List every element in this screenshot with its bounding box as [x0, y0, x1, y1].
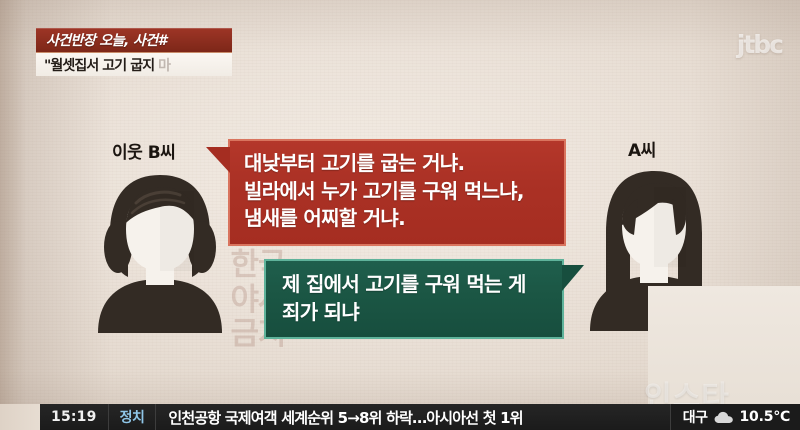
speaker-label-right: A씨: [628, 136, 656, 161]
ticker-left-padding: [0, 404, 40, 430]
cloud-icon: [714, 411, 734, 424]
speech-bubble-right-speaker: 제 집에서 고기를 구워 먹는 게 죄가 되냐: [264, 259, 564, 339]
speech-bubble-left-speaker: 대낮부터 고기를 굽는 거냐. 빌라에서 누가 고기를 구워 먹느냐, 냄새를 …: [228, 139, 566, 246]
program-title-text: 사건반장 오늘, 사건#: [46, 30, 167, 50]
program-title-block: 사건반장 오늘, 사건# "월셋집서 고기 굽지 마: [36, 28, 232, 76]
ticker-category: 정치: [109, 404, 157, 430]
weather-temperature: 10.5℃: [740, 409, 791, 425]
avatar-left: [84, 165, 236, 333]
segment-headline-bar: "월셋집서 고기 굽지 마: [36, 52, 232, 76]
speaker-label-left: 이웃 B씨: [112, 138, 175, 163]
ticker-headline: 인천공항 국제여객 세계순위 5→8위 하락…아시아선 첫 1위: [156, 404, 669, 430]
ticker-weather: 대구 10.5℃: [670, 404, 800, 430]
news-ticker: 15:19 정치 인천공항 국제여객 세계순위 5→8위 하락…아시아선 첫 1…: [40, 404, 800, 430]
segment-headline-faded: 마: [154, 58, 170, 74]
segment-headline-text: "월셋집서 고기 굽지 마: [44, 55, 170, 75]
jtbc-logo: jtbc: [737, 30, 782, 59]
weather-region: 대구: [683, 407, 708, 427]
segment-headline-main: "월셋집서 고기 굽지: [44, 58, 154, 74]
ticker-clock: 15:19: [40, 404, 109, 430]
program-title-bar: 사건반장 오늘, 사건#: [36, 28, 232, 52]
broadcast-screen: 한국 야사 금지 사건반장 오늘, 사건# "월셋집서 고기 굽지 마 jtbc…: [0, 0, 800, 430]
